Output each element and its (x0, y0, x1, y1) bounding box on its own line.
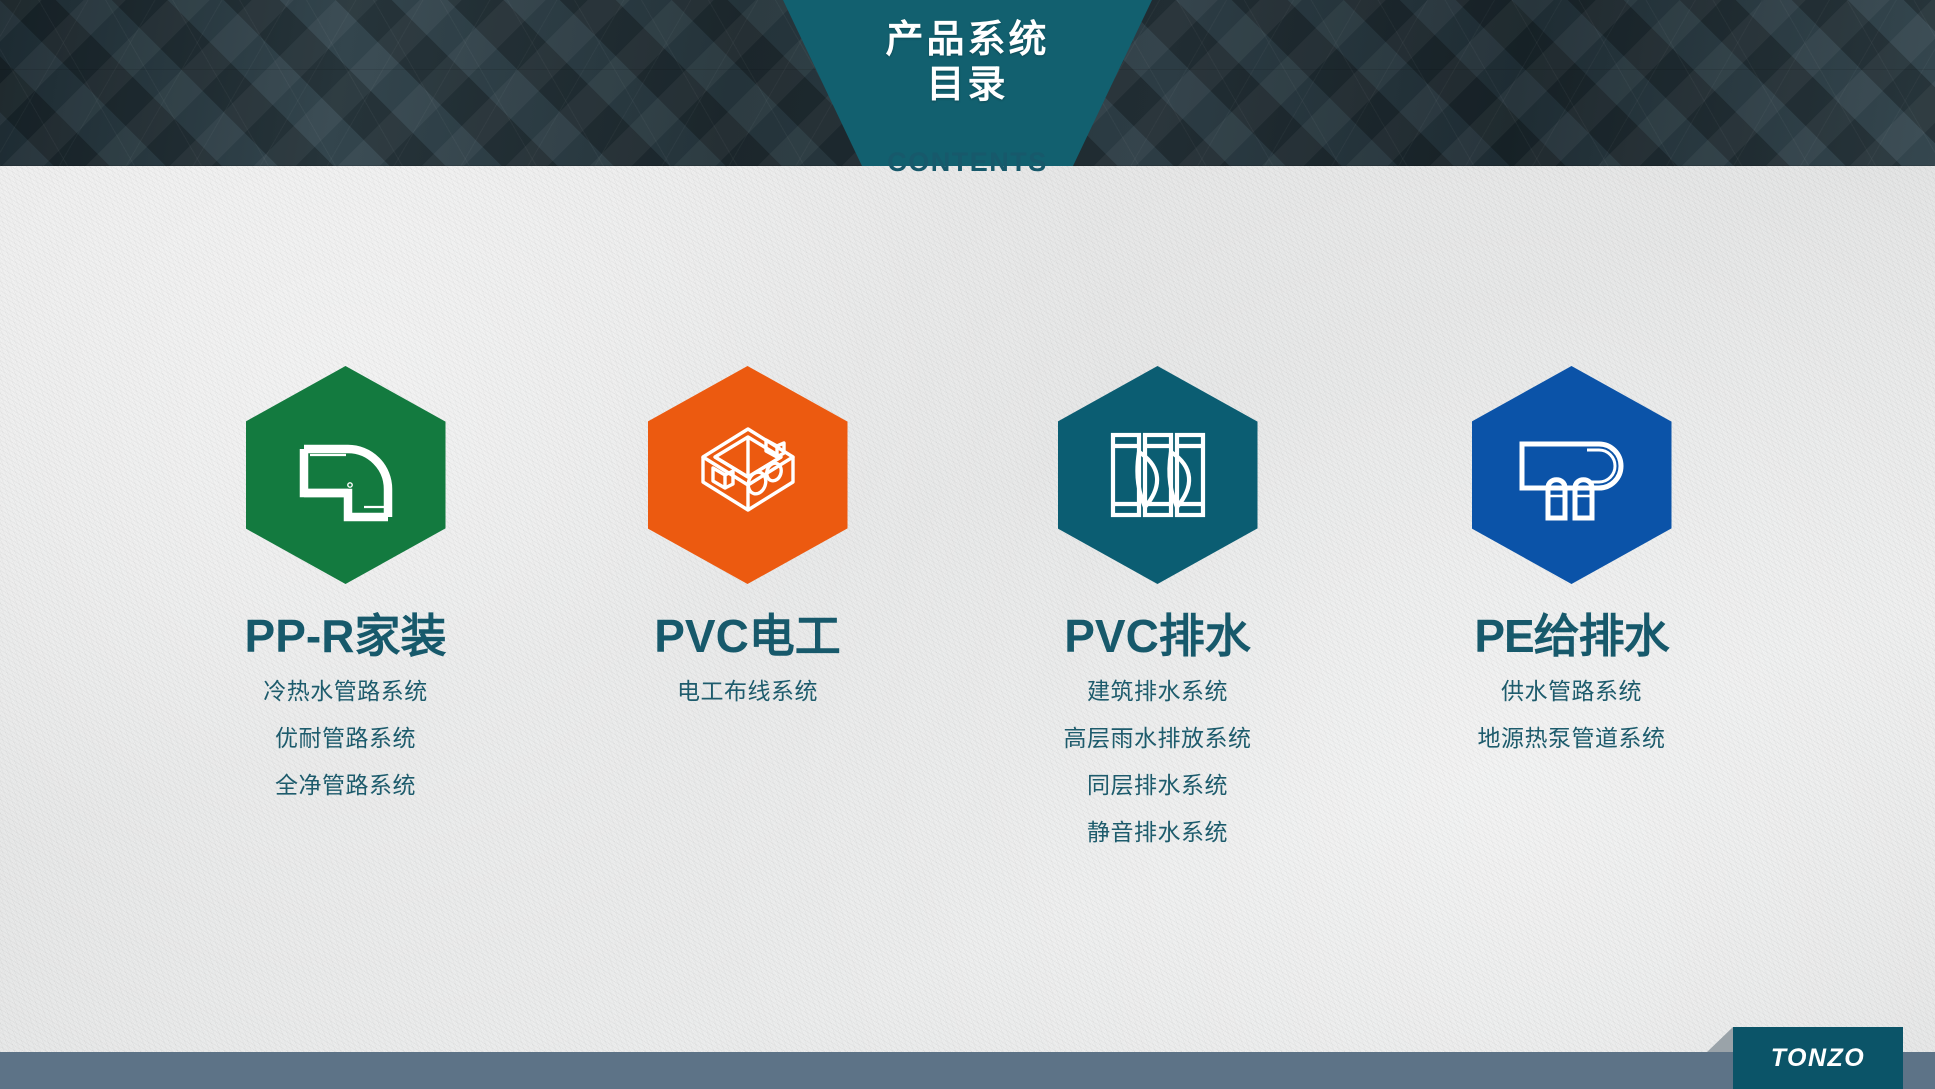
title-row: PVC电工 (654, 584, 841, 660)
product-column-pvc-drainage[interactable]: PVC排水 建筑排水系统 高层雨水排放系统 同层排水系统 静音排水系统 (943, 166, 1373, 844)
list-item[interactable]: 高层雨水排放系统 (1064, 727, 1252, 750)
list-item[interactable]: 静音排水系统 (1087, 821, 1228, 844)
list-item[interactable]: 全净管路系统 (275, 774, 416, 797)
list-item[interactable]: 供水管路系统 (1501, 680, 1642, 703)
sub-items-pe: 供水管路系统 地源热泵管道系统 (1478, 680, 1666, 750)
brand-logo-text: TONZO (1771, 1044, 1866, 1073)
hex-icon-wrapper (246, 366, 446, 584)
column-title-pe: PE给排水 (1474, 612, 1668, 660)
pe-manifold-pipe-icon (1472, 366, 1672, 584)
list-item[interactable]: 冷热水管路系统 (263, 680, 428, 703)
hex-icon-wrapper (1058, 366, 1258, 584)
ppr-elbow-pipe-icon (246, 366, 446, 584)
product-systems-row: PP-R家装 冷热水管路系统 优耐管路系统 全净管路系统 (0, 166, 1935, 1089)
hex-icon-wrapper (1472, 366, 1672, 584)
column-title-ppr: PP-R家装 (245, 612, 447, 660)
pvc-junction-box-icon (648, 366, 848, 584)
header-title: 产品系统 目录 (0, 18, 1935, 108)
list-item[interactable]: 同层排水系统 (1087, 774, 1228, 797)
slide-root: 产品系统 目录 CONTENTS (0, 0, 1935, 1089)
pvc-drain-pipes-icon (1058, 366, 1258, 584)
product-column-pvc-electrical[interactable]: PVC电工 电工布线系统 (533, 166, 963, 703)
product-column-ppr[interactable]: PP-R家装 冷热水管路系统 优耐管路系统 全净管路系统 (131, 166, 561, 797)
brand-logo[interactable]: TONZO (1733, 1027, 1903, 1089)
sub-items-ppr: 冷热水管路系统 优耐管路系统 全净管路系统 (263, 680, 428, 797)
title-row: PE给排水 (1474, 584, 1668, 660)
sub-items-pvc-electrical: 电工布线系统 (677, 680, 818, 703)
list-item[interactable]: 地源热泵管道系统 (1478, 727, 1666, 750)
header-banner: 产品系统 目录 (0, 0, 1935, 166)
hex-icon-wrapper (648, 366, 848, 584)
sub-items-pvc-drainage: 建筑排水系统 高层雨水排放系统 同层排水系统 静音排水系统 (1064, 680, 1252, 844)
header-title-line2: 目录 (0, 63, 1935, 108)
header-title-line1: 产品系统 (885, 19, 1049, 61)
title-row: PP-R家装 (245, 584, 447, 660)
list-item[interactable]: 优耐管路系统 (275, 727, 416, 750)
title-row: PVC排水 (1064, 584, 1251, 660)
column-title-pvc-drainage: PVC排水 (1064, 612, 1251, 660)
list-item[interactable]: 电工布线系统 (677, 680, 818, 703)
footer-bar (0, 1052, 1935, 1089)
product-column-pe[interactable]: PE给排水 供水管路系统 地源热泵管道系统 (1357, 166, 1787, 750)
column-title-pvc-electrical: PVC电工 (654, 612, 841, 660)
list-item[interactable]: 建筑排水系统 (1087, 680, 1228, 703)
